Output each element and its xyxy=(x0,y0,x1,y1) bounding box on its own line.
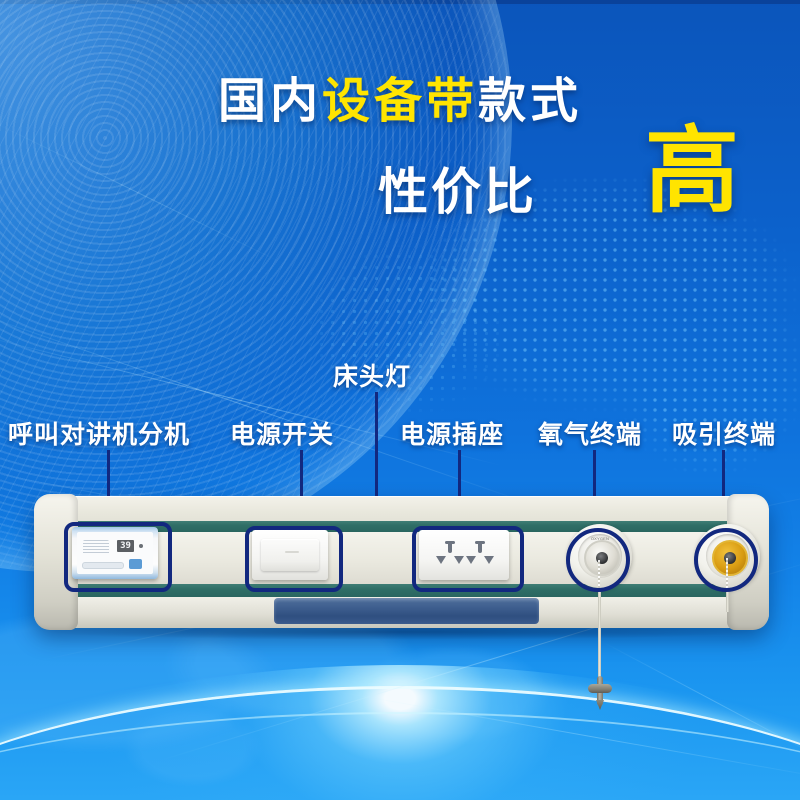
poster-stage: 国内设备带款式 性价比 高 呼叫对讲机分机 电源开关 床头灯 电源插座 氧气终端… xyxy=(0,0,800,800)
highlight-box-intercom xyxy=(64,522,172,592)
highlight-box-power-switch xyxy=(245,526,343,592)
highlight-circle-suction xyxy=(694,528,758,592)
highlight-circle-oxygen xyxy=(566,528,630,592)
panel-accessory-rail xyxy=(274,598,539,624)
pull-cord[interactable] xyxy=(598,592,601,678)
pull-cord-handle[interactable] xyxy=(588,676,612,706)
callout-label-intercom: 呼叫对讲机分机 xyxy=(8,415,190,451)
pull-cord-handle-crossbar xyxy=(588,684,612,693)
callout-label-power-switch: 电源开关 xyxy=(230,415,334,451)
callout-layer: 呼叫对讲机分机 电源开关 床头灯 电源插座 氧气终端 吸引终端 xyxy=(0,0,800,800)
highlight-box-power-socket xyxy=(412,526,524,592)
callout-label-power-socket: 电源插座 xyxy=(400,415,504,451)
callout-label-oxygen: 氧气终端 xyxy=(538,415,642,451)
callout-label-suction: 吸引终端 xyxy=(672,415,776,451)
callout-label-bed-lamp: 床头灯 xyxy=(333,357,411,393)
